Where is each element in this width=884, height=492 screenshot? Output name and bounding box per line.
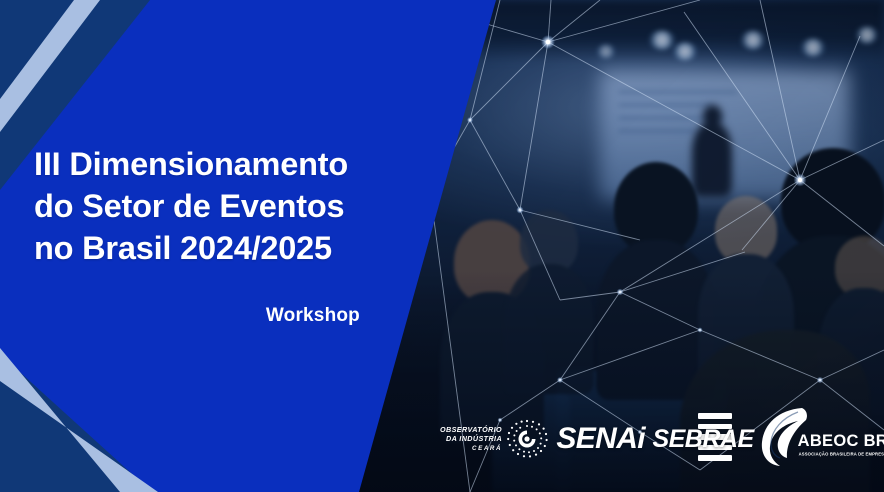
abeoc-tagline: ASSOCIAÇÃO BRASILEIRA DE EMPRESAS DE EVE… xyxy=(799,451,884,457)
logo-observatorio-da-industria: OBSERVATÓRIO DA INDÚSTRIA CEARÁ xyxy=(440,415,549,463)
title-line-1: III Dimensionamento xyxy=(34,143,394,185)
observatorio-line-2: DA INDÚSTRIA xyxy=(440,434,502,443)
dotted-spiral-icon xyxy=(506,418,548,460)
abeoc-wordmark: ABEOC BRASIL xyxy=(798,432,884,451)
page-title: III Dimensionamento do Setor de Eventos … xyxy=(34,143,394,269)
event-subtitle: Workshop xyxy=(34,305,360,327)
senai-wordmark: SENAi xyxy=(556,422,645,456)
observatorio-wordmark: OBSERVATÓRIO DA INDÚSTRIA CEARÁ xyxy=(440,425,502,453)
logo-senai: SENAi xyxy=(549,415,652,463)
sebrae-wordmark: SEBRAE xyxy=(652,425,753,454)
logo-sebrae: SEBRAE xyxy=(652,411,753,467)
sponsor-logo-strip: OBSERVATÓRIO DA INDÚSTRIA CEARÁ xyxy=(440,404,870,474)
logo-abeoc-brasil: ABEOC BRASIL ASSOCIAÇÃO BRASILEIRA DE EM… xyxy=(754,408,870,470)
title-line-3: no Brasil 2024/2025 xyxy=(34,227,394,269)
title-line-2: do Setor de Eventos xyxy=(34,185,394,227)
observatorio-line-3: CEARÁ xyxy=(440,444,502,453)
event-banner: III Dimensionamento do Setor de Eventos … xyxy=(0,0,884,492)
observatorio-line-1: OBSERVATÓRIO xyxy=(440,425,502,434)
